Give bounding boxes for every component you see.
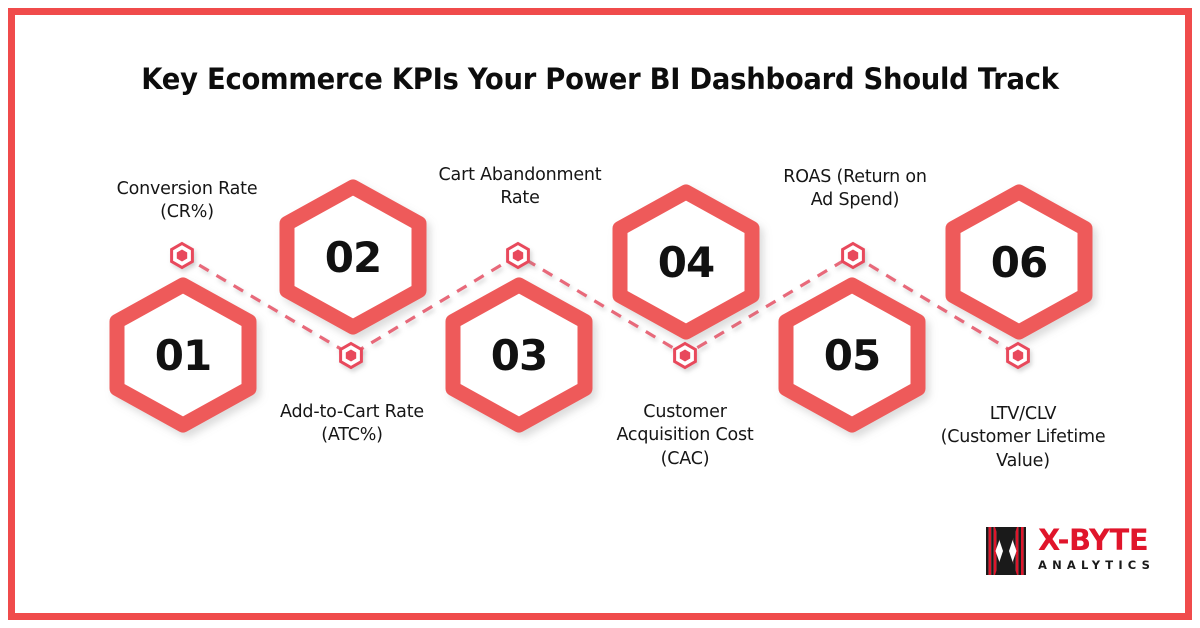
logo-subtitle: ANALYTICS [1038,558,1155,572]
label-cart-abandonment-rate-line1: Cart Abandonment [410,164,630,187]
label-roas: ROAS (Return on Ad Spend) [750,166,960,213]
hexagon-number-05: 05 [779,282,925,428]
label-ltv-clv-line1: LTV/CLV [913,403,1133,426]
hexagon-step-04[interactable]: 04 [613,189,759,335]
label-ltv-clv-line3: Value) [913,450,1133,473]
connector-node-icon-2 [338,342,364,368]
infographic-canvas: Key Ecommerce KPIs Your Power BI Dashboa… [0,0,1200,628]
hexagon-number-06: 06 [946,189,1092,335]
label-add-to-cart-rate-line1: Add-to-Cart Rate [246,401,458,424]
hexagon-number-02: 02 [280,184,426,330]
hexagon-number-01: 01 [110,282,256,428]
label-ltv-clv-line2: (Customer Lifetime [913,426,1133,449]
label-customer-acquisition-cost: Customer Acquisition Cost (CAC) [582,401,788,471]
label-conversion-rate-line1: Conversion Rate [82,178,292,201]
label-add-to-cart-rate-line2: (ATC%) [246,424,458,447]
label-conversion-rate-line2: (CR%) [82,201,292,224]
label-roas-line2: Ad Spend) [750,189,960,212]
hexagon-step-05[interactable]: 05 [779,282,925,428]
connector-node-icon-5 [840,242,866,268]
label-cart-abandonment-rate: Cart Abandonment Rate [410,164,630,211]
connector-node-icon-3 [505,242,531,268]
hexagon-step-02[interactable]: 02 [280,184,426,330]
x-bowtie-mark-icon [986,527,1026,575]
logo-name: X-BYTE [1038,525,1155,555]
label-roas-line1: ROAS (Return on [750,166,960,189]
label-customer-acquisition-cost-line3: (CAC) [582,448,788,471]
label-cart-abandonment-rate-line2: Rate [410,187,630,210]
hexagon-number-03: 03 [446,282,592,428]
label-customer-acquisition-cost-line2: Acquisition Cost [582,424,788,447]
connector-node-icon-1 [169,242,195,268]
label-conversion-rate: Conversion Rate (CR%) [82,178,292,225]
label-add-to-cart-rate: Add-to-Cart Rate (ATC%) [246,401,458,448]
label-customer-acquisition-cost-line1: Customer [582,401,788,424]
hexagon-step-06[interactable]: 06 [946,189,1092,335]
label-ltv-clv: LTV/CLV (Customer Lifetime Value) [913,403,1133,473]
connector-node-icon-6 [1005,342,1031,368]
hexagon-step-01[interactable]: 01 [110,282,256,428]
logo-text-block: X-BYTE ANALYTICS [1038,525,1155,572]
hexagon-step-03[interactable]: 03 [446,282,592,428]
brand-logo: X-BYTE ANALYTICS [986,525,1146,583]
connector-node-icon-4 [672,342,698,368]
hexagon-number-04: 04 [613,189,759,335]
